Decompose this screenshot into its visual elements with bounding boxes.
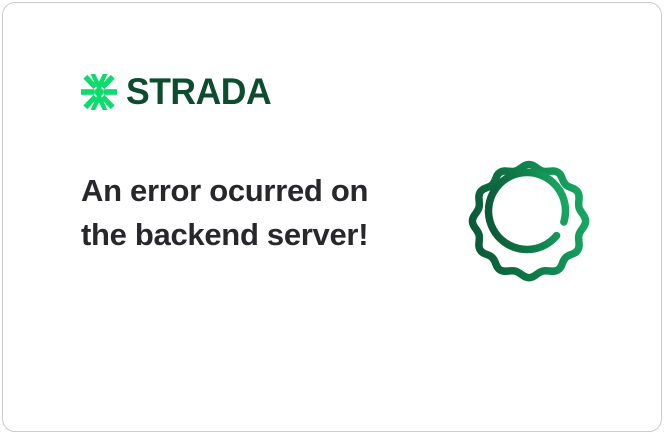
- error-card: STRADA An error ocurred on the backend s…: [2, 2, 662, 432]
- strada-asterisk-icon: [81, 74, 117, 110]
- gear-cog-icon: [453, 145, 605, 297]
- error-message: An error ocurred on the backend server!: [81, 169, 381, 257]
- brand-name: STRADA: [126, 73, 271, 110]
- brand-lockup: STRADA: [81, 73, 277, 110]
